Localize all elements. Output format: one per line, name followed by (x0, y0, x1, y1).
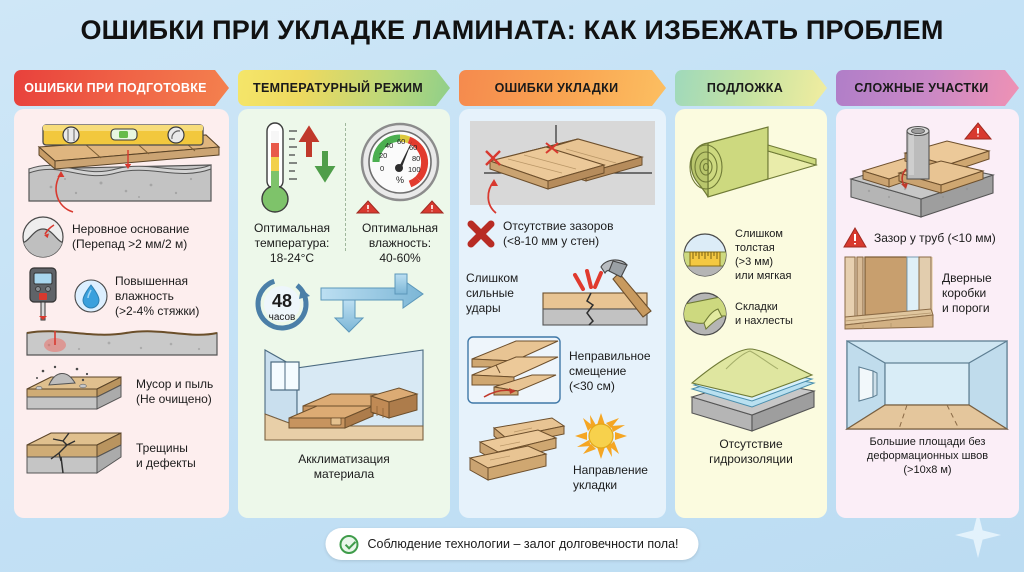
column-header-installation[interactable]: ОШИБКИ УКЛАДКИ (459, 70, 666, 106)
item-door-frames: Дверные коробки и пороги (843, 255, 1012, 331)
column-body-underlay: Слишком толстая (>3 мм) или мягкая Скла (675, 109, 827, 518)
column-body-preparation: Неровное основание (Перепад >2 мм/2 м) (14, 109, 229, 518)
column-underlay: ПОДЛОЖКА (675, 70, 827, 518)
sparkle-decoration (955, 512, 1001, 558)
cross-icon (466, 219, 496, 249)
svg-text:20: 20 (379, 151, 387, 160)
caption-line-2: толстая (735, 241, 791, 255)
large-areas-caption-1: Большие площади без (843, 435, 1012, 449)
pipe-through-floor-icon (843, 117, 1013, 225)
caption-line-1: Складки (735, 300, 793, 314)
item-too-thick-soft: Слишком толстая (>3 мм) или мягкая (682, 227, 820, 283)
acclimatization-caption-1: Акклиматизация (245, 452, 443, 467)
item-laying-direction: Направление укладки (466, 411, 659, 493)
svg-text:40: 40 (385, 141, 393, 150)
caption-line-2: температура: (245, 236, 339, 251)
column-body-difficult-areas: Зазор у труб (<10 мм) Две (836, 109, 1019, 518)
debris-dust-caption: Мусор и пыль (Не очищено) (136, 377, 213, 407)
too-thick-caption: Слишком толстая (>3 мм) или мягкая (735, 227, 791, 283)
item-too-strong-hits: Слишком сильные удары (466, 255, 659, 331)
caption-line-2: сильные (466, 286, 528, 301)
dust-pile-icon (21, 363, 129, 421)
strong-hits-caption: Слишком сильные удары (466, 271, 528, 316)
footer-text: Соблюдение технологии – залог долговечно… (367, 537, 678, 551)
column-header-underlay[interactable]: ПОДЛОЖКА (675, 70, 827, 106)
temp-humidity-pair: Оптимальная температура: 18-24°C 0 (245, 117, 443, 266)
caption-line-1: Слишком (466, 271, 528, 286)
pipe-gap-caption: Зазор у труб (<10 мм) (874, 231, 996, 246)
check-circle-icon (339, 535, 358, 554)
caption-line-3: 18-24°C (245, 251, 339, 266)
wrong-offset-caption: Неправильное смещение (<30 см) (569, 349, 651, 394)
column-difficult-areas: СЛОЖНЫЕ УЧАСТКИ (836, 70, 1019, 518)
thermometer-icon (245, 117, 339, 221)
folds-caption: Складки и нахлесты (735, 300, 793, 328)
cracked-slab-icon (21, 427, 129, 485)
no-gaps-caption: Отсутствие зазоров (<8-10 мм у стен) (503, 219, 613, 249)
column-header-label: ОШИБКИ ПРИ ПОДГОТОВКЕ (24, 81, 207, 95)
caption-line-2: (<8-10 мм у стен) (503, 234, 613, 249)
caption-line-3: (>3 мм) (735, 255, 791, 269)
caption-line-3: 40-60% (352, 251, 448, 266)
caption-line-1: Дверные (942, 271, 992, 286)
caption-line-3: (<30 см) (569, 379, 651, 394)
column-body-installation: Отсутствие зазоров (<8-10 мм у стен) Сли… (459, 109, 666, 518)
caption-line-4: или мягкая (735, 269, 791, 283)
caption-line-1: Направление (573, 463, 648, 478)
svg-text:%: % (396, 175, 404, 185)
hygrometer-gauge-icon: 0 20 40 60 60 80 100 % (352, 117, 448, 221)
plank-offset-icon (466, 335, 562, 407)
footer-banner: Соблюдение технологии – залог долговечно… (325, 528, 698, 560)
svg-text:60: 60 (409, 143, 417, 152)
room-with-stacked-planks-icon (245, 332, 443, 450)
warning-triangle-right (421, 201, 443, 213)
caption-line-3: (>2-4% стяжки) (115, 304, 199, 319)
uneven-base-icon (21, 215, 65, 259)
badge-unit: часов (269, 312, 296, 323)
svg-text:60: 60 (397, 137, 405, 146)
caption-line-1: Трещины (136, 441, 196, 456)
caption-line-3: удары (466, 301, 528, 316)
caption-line-2: и нахлесты (735, 314, 793, 328)
caption-line-1: Неправильное (569, 349, 651, 364)
acclimatization-caption-2: материала (245, 467, 443, 482)
item-wrong-offset: Неправильное смещение (<30 см) (466, 335, 659, 407)
hammer-cracking-plank-icon (535, 255, 657, 331)
caption-line-2: (Не очищено) (136, 392, 213, 407)
column-header-temperature[interactable]: ТЕМПЕРАТУРНЫЙ РЕЖИМ (238, 70, 450, 106)
column-installation: ОШИБКИ УКЛАДКИ (459, 70, 666, 518)
caption-line-1: Оптимальная (245, 221, 339, 236)
item-pipe-gap: Зазор у труб (<10 мм) (843, 227, 1012, 249)
column-body-temperature: Оптимальная температура: 18-24°C 0 (238, 109, 450, 518)
item-cracks-defects: Трещины и дефекты (21, 427, 222, 485)
flow-arrows (319, 274, 435, 334)
columns-container: ОШИБКИ ПРИ ПОДГОТОВКЕ (14, 70, 1010, 518)
caption-line-1: Слишком (735, 227, 791, 241)
caption-line-3: и пороги (942, 301, 992, 316)
planks-stack-icon (466, 412, 566, 492)
acclimatization-flow: 48 часов (245, 274, 443, 334)
caption-line-2: влажность: (352, 236, 448, 251)
item-folds-overlaps: Складки и нахлесты (682, 291, 820, 337)
caption-line-2: смещение (569, 364, 651, 379)
empty-room-perspective-icon (843, 337, 1011, 433)
column-preparation: ОШИБКИ ПРИ ПОДГОТОВКЕ (14, 70, 229, 518)
caption-line-1: Оптимальная (352, 221, 448, 236)
svg-text:0: 0 (380, 164, 384, 173)
door-frames-caption: Дверные коробки и пороги (942, 271, 992, 316)
column-header-label: ПОДЛОЖКА (707, 81, 783, 95)
column-header-label: ТЕМПЕРАТУРНЫЙ РЕЖИМ (253, 81, 423, 95)
warning-triangle-icon (843, 227, 867, 249)
warning-triangle-left (357, 201, 379, 213)
caption-line-1: Отсутствие зазоров (503, 219, 613, 234)
door-frame-threshold-icon (843, 255, 935, 331)
high-humidity-caption: Повышенная влажность (>2-4% стяжки) (115, 274, 199, 319)
layered-slab-with-moisture-icon (682, 341, 822, 435)
sun-icon (573, 411, 629, 461)
waterproofing-caption-1: Отсутствие (682, 437, 820, 452)
item-high-humidity: Повышенная влажность (>2-4% стяжки) (21, 265, 222, 327)
column-header-label: ОШИБКИ УКЛАДКИ (495, 81, 619, 95)
column-header-label: СЛОЖНЫЕ УЧАСТКИ (854, 81, 988, 95)
illustration-no-expansion-gaps (466, 117, 659, 217)
caption-line-1: Мусор и пыль (136, 377, 213, 392)
large-areas-caption-3: (>10x8 м) (843, 463, 1012, 477)
ruler-measuring-underlay-icon (682, 232, 728, 278)
item-optimal-temperature: Оптимальная температура: 18-24°C (245, 117, 339, 266)
item-optimal-humidity: 0 20 40 60 60 80 100 % (352, 117, 448, 266)
large-areas-caption-2: деформационных швов (843, 449, 1012, 463)
item-debris-dust: Мусор и пыль (Не очищено) (21, 363, 222, 421)
laying-direction-block: Направление укладки (573, 411, 648, 493)
caption-line-2: и дефекты (136, 456, 196, 471)
waterproofing-caption-2: гидроизоляции (682, 452, 820, 467)
folded-underlay-icon (682, 291, 728, 337)
moisture-meter-icon (21, 265, 67, 327)
illustration-spirit-level-on-uneven-screed (21, 117, 222, 213)
column-temperature: ТЕМПЕРАТУРНЫЙ РЕЖИМ (238, 70, 450, 518)
caption-line-2: укладки (573, 478, 648, 493)
item-uneven-base: Неровное основание (Перепад >2 мм/2 м) (21, 215, 222, 259)
caption-line-2: коробки (942, 286, 992, 301)
cracks-defects-caption: Трещины и дефекты (136, 441, 196, 471)
uneven-base-caption: Неровное основание (Перепад >2 мм/2 м) (72, 222, 189, 252)
column-header-difficult-areas[interactable]: СЛОЖНЫЕ УЧАСТКИ (836, 70, 1019, 106)
svg-text:100: 100 (408, 165, 421, 174)
illustration-damp-screed (21, 323, 222, 359)
column-header-preparation[interactable]: ОШИБКИ ПРИ ПОДГОТОВКЕ (14, 70, 229, 106)
page-title: ОШИБКИ ПРИ УКЛАДКЕ ЛАМИНАТА: КАК ИЗБЕЖАТ… (0, 13, 1024, 47)
underlay-roll-icon (682, 117, 822, 225)
caption-line-1: Неровное основание (72, 222, 189, 237)
warning-triangle-icon (965, 123, 991, 139)
caption-line-1: Повышенная (115, 274, 199, 289)
badge-value: 48 (272, 291, 292, 311)
48-hours-badge: 48 часов (245, 274, 319, 334)
water-drop-icon (74, 279, 108, 313)
caption-line-2: (Перепад >2 мм/2 м) (72, 237, 189, 252)
caption-line-2: влажность (115, 289, 199, 304)
item-no-expansion-gaps: Отсутствие зазоров (<8-10 мм у стен) (466, 219, 659, 249)
svg-text:80: 80 (412, 154, 420, 163)
vertical-divider (345, 123, 346, 251)
